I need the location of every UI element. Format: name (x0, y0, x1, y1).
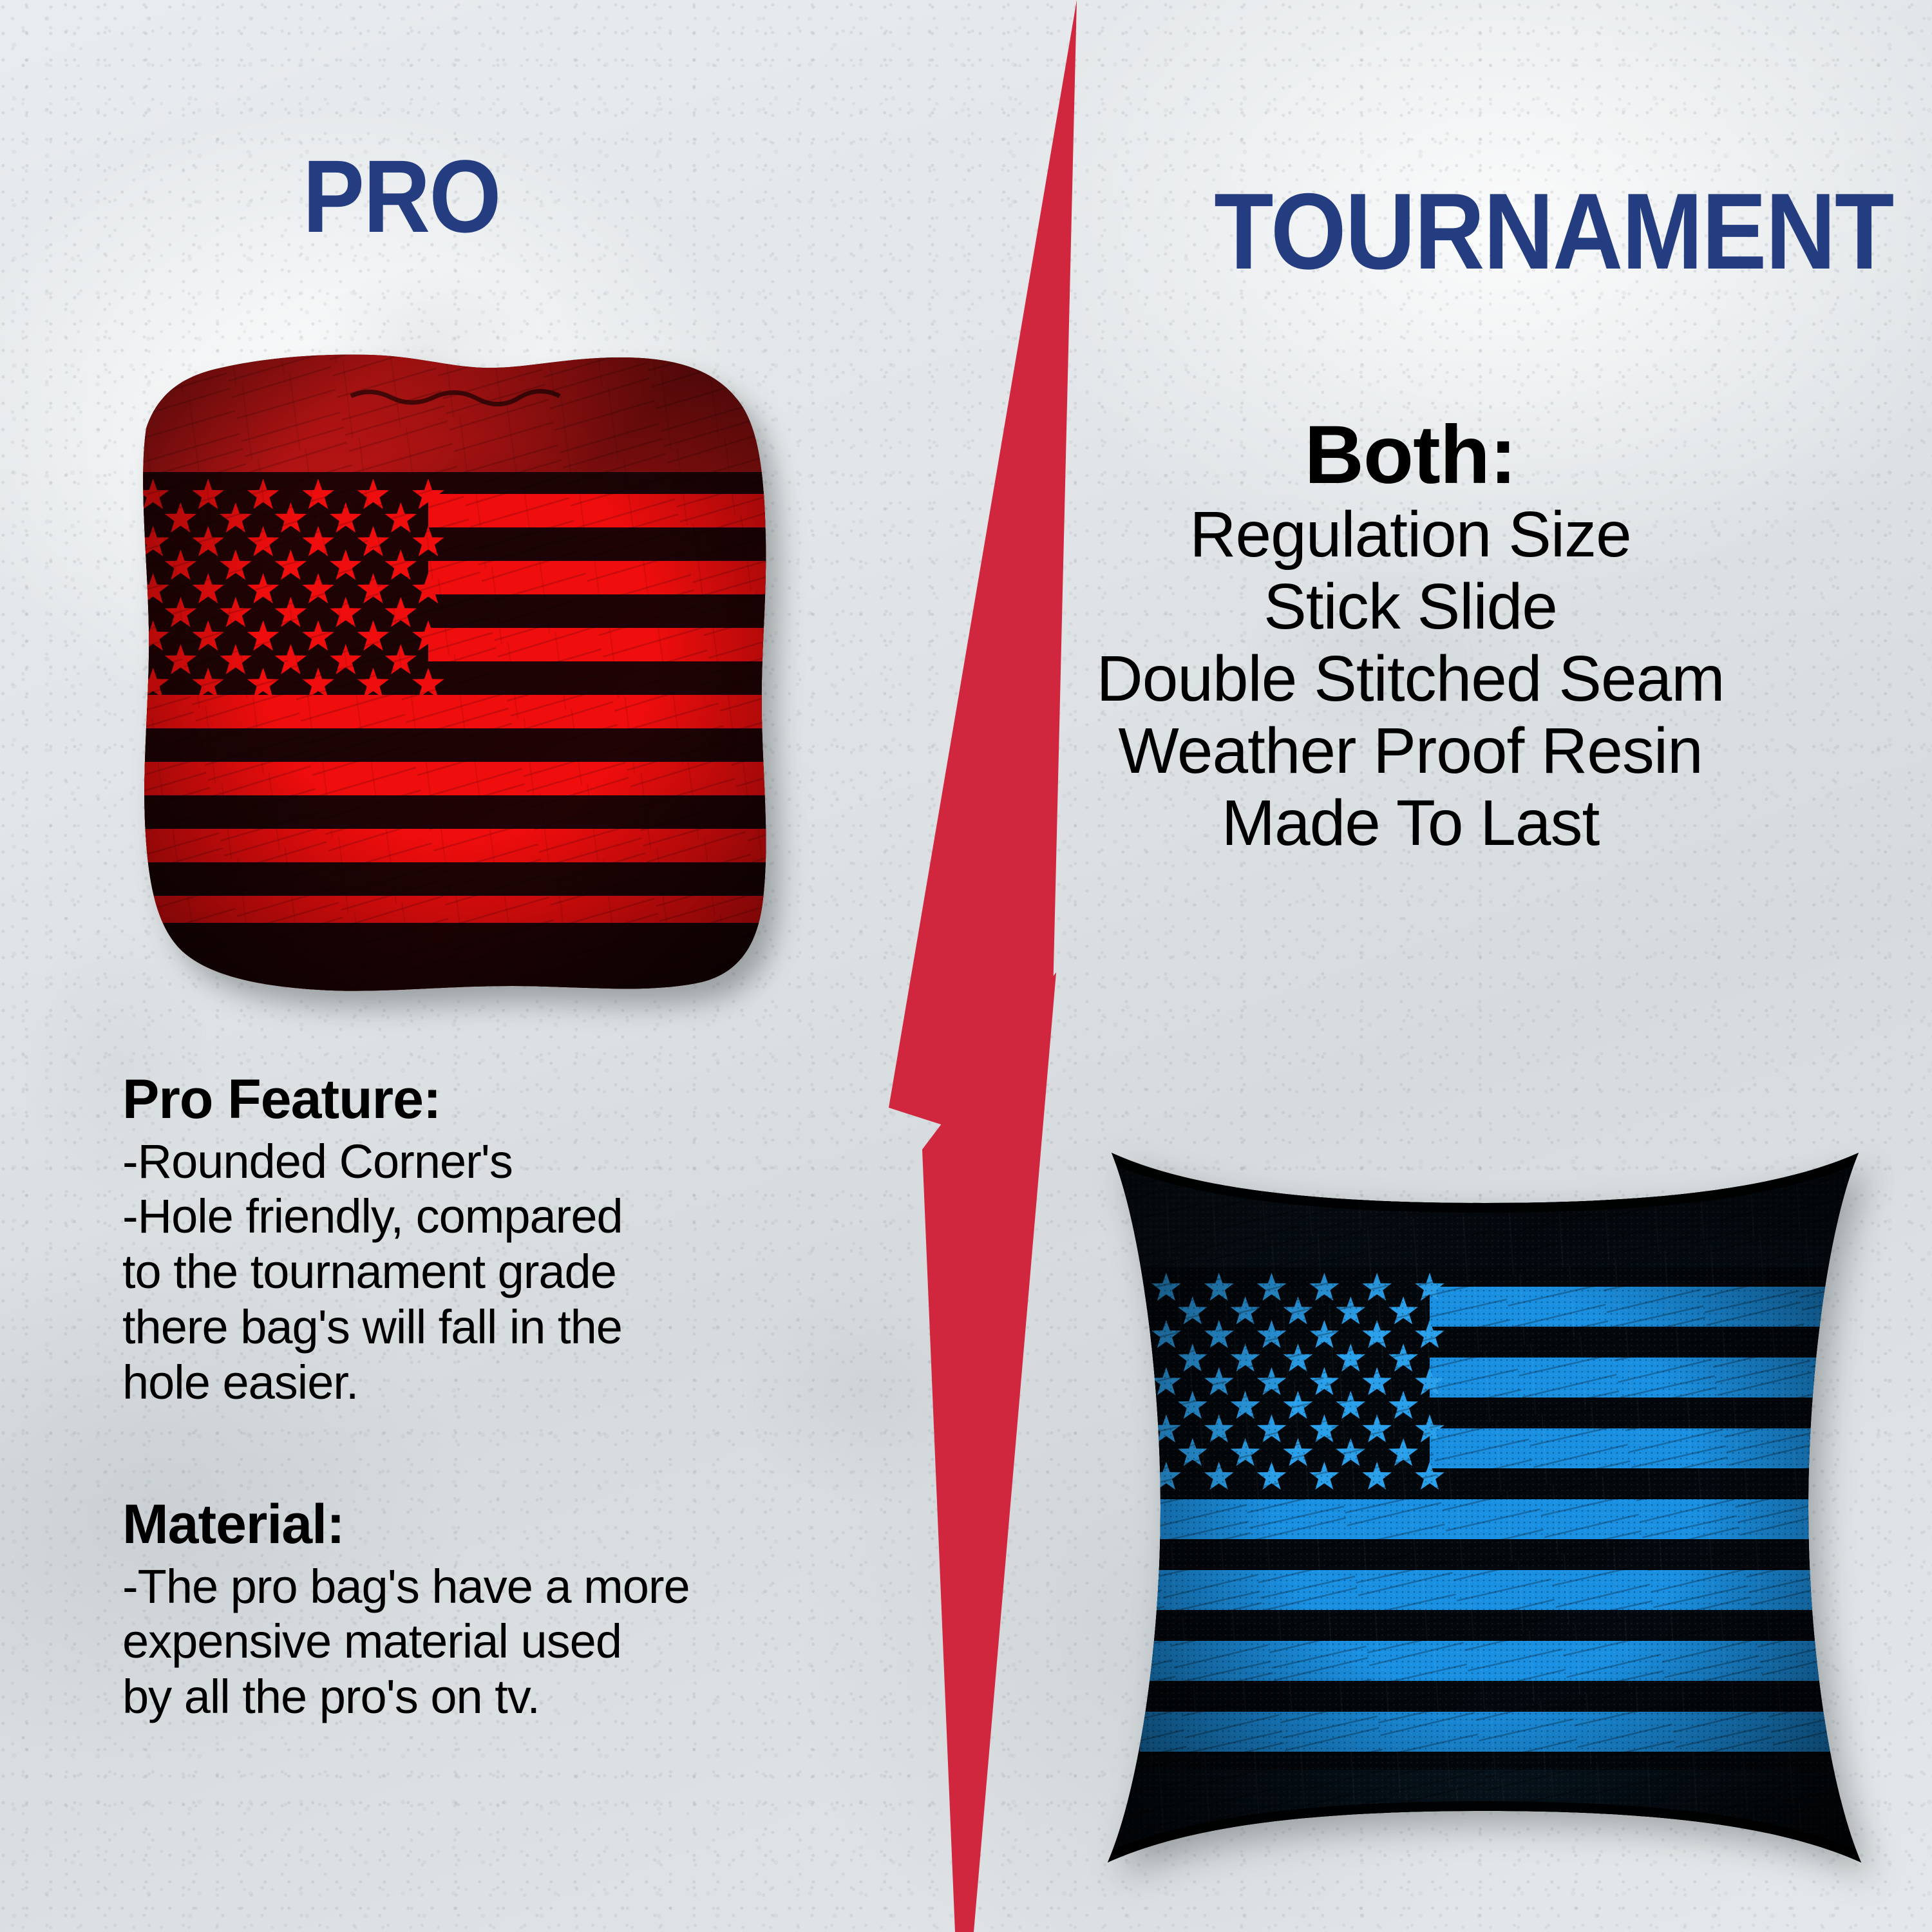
both-heading: Both: (992, 412, 1829, 498)
both-feature-5: Made To Last (992, 787, 1829, 859)
material-block: Material: -The pro bag's have a more exp… (122, 1494, 728, 1725)
both-feature-3: Double Stitched Seam (992, 643, 1829, 715)
material-line-2: expensive material used (122, 1614, 728, 1669)
pro-bag-svg (113, 332, 799, 1018)
infographic-canvas: PRO TOURNAMENT (0, 0, 1932, 1932)
pro-feature-heading: Pro Feature: (122, 1069, 728, 1130)
pro-bag-surface (113, 332, 799, 1018)
pro-feature-line-5: hole easier. (122, 1355, 728, 1410)
pro-feature-line-1: -Rounded Corner's (122, 1134, 728, 1189)
tournament-bag-surface (1088, 1127, 1880, 1887)
material-heading: Material: (122, 1494, 728, 1555)
tournament-bag-image (1088, 1127, 1880, 1887)
tournament-bag-svg (1088, 1127, 1880, 1887)
page-title-pro: PRO (303, 145, 500, 248)
both-feature-1: Regulation Size (992, 498, 1829, 571)
page-title-tournament: TOURNAMENT (1215, 177, 1893, 285)
material-line-3: by all the pro's on tv. (122, 1669, 728, 1725)
both-features-block: Both: Regulation Size Stick Slide Double… (992, 412, 1829, 859)
pro-bag-image (113, 332, 799, 1018)
pro-feature-block: Pro Feature: -Rounded Corner's -Hole fri… (122, 1069, 728, 1410)
pro-feature-line-2: -Hole friendly, compared (122, 1189, 728, 1244)
material-line-1: -The pro bag's have a more (122, 1559, 728, 1615)
both-feature-4: Weather Proof Resin (992, 715, 1829, 787)
pro-feature-line-4: there bag's will fall in the (122, 1300, 728, 1355)
pro-feature-line-3: to the tournament grade (122, 1244, 728, 1300)
both-feature-2: Stick Slide (992, 571, 1829, 643)
